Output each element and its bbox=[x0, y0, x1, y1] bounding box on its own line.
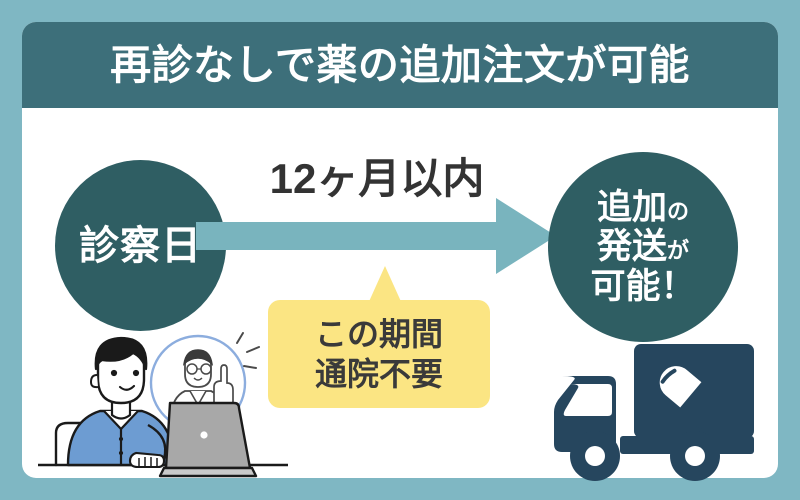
delivery-truck-illustration bbox=[548, 340, 763, 485]
end-circle-line-3: 可能！ bbox=[590, 267, 695, 306]
start-circle-label: 診察日 bbox=[79, 226, 202, 266]
end-circle: 追加の 発送が 可能！ bbox=[548, 152, 738, 342]
callout-line-2: 通院不要 bbox=[315, 354, 443, 394]
infographic-canvas: 再診なしで薬の追加注文が可能 診察日 12ヶ月以内 追加の 発送が 可能！ この… bbox=[0, 0, 800, 500]
delivery-truck-with-pill-icon bbox=[548, 340, 763, 485]
header-title: 再診なしで薬の追加注文が可能 bbox=[110, 45, 690, 86]
period-label: 12ヶ月以内 bbox=[262, 158, 492, 200]
callout-box: この期間 通院不要 bbox=[268, 300, 490, 408]
end-circle-line-1-main: 追加 bbox=[597, 188, 667, 227]
end-circle-line-2: 発送が bbox=[597, 227, 689, 266]
end-circle-line-1: 追加の bbox=[597, 188, 689, 227]
end-circle-line-2-main: 発送 bbox=[597, 227, 667, 266]
flow-arrow bbox=[196, 198, 556, 274]
person-at-laptop-illustration bbox=[38, 325, 288, 490]
header-bar: 再診なしで薬の追加注文が可能 bbox=[22, 22, 778, 108]
person-at-laptop-icon bbox=[38, 325, 288, 490]
end-circle-line-2-particle: が bbox=[667, 238, 689, 263]
end-circle-line-1-particle: の bbox=[667, 199, 689, 224]
right-arrow-icon bbox=[196, 198, 556, 274]
callout-line-1: この期間 bbox=[315, 314, 443, 354]
